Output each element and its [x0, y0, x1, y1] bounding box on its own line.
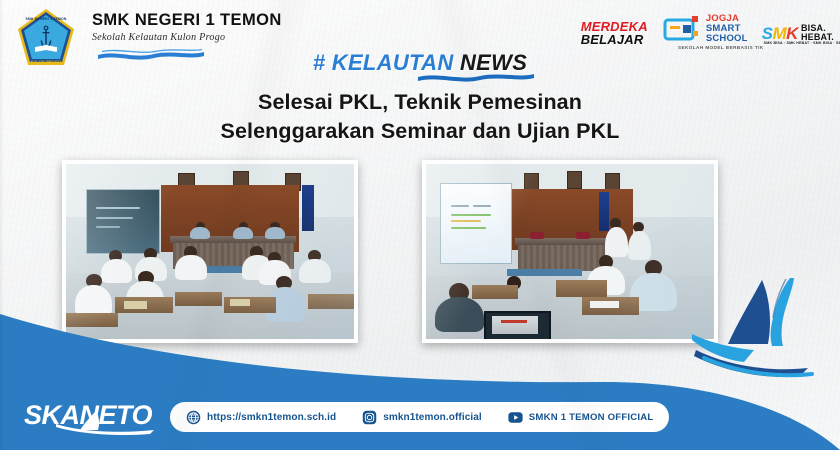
- jogja-mark-icon: [662, 13, 702, 45]
- smk-bisa-hebat-logo: SMK BISA. HEBAT. SMK BISA · SMK HEBAT · …: [762, 24, 834, 42]
- merdeka-line2: BELAJAR: [581, 33, 648, 46]
- website-contact[interactable]: https://smkn1temon.sch.id: [186, 410, 336, 425]
- instagram-contact[interactable]: smkn1temon.official: [362, 410, 482, 425]
- emblem-ring-text: SMK NEGERI 1 TEMON: [24, 17, 68, 21]
- skaneto-sail-icon: [54, 409, 158, 435]
- jogja-smart-school-logo: JOGJA SMART SCHOOL: [662, 13, 748, 45]
- smk-letters: SMK: [762, 25, 798, 42]
- contact-pill: https://smkn1temon.sch.id smkn1temon.off…: [170, 402, 669, 432]
- headline-line-1: Selesai PKL, Teknik Pemesinan: [258, 90, 582, 114]
- instagram-label: smkn1temon.official: [383, 412, 482, 423]
- headline-line-2: Selenggarakan Seminar dan Ujian PKL: [60, 117, 780, 146]
- youtube-icon: [508, 410, 523, 425]
- smk-strip-text: SMK BISA · SMK HEBAT · SMK BISA · SMK HE…: [764, 41, 840, 46]
- website-label: https://smkn1temon.sch.id: [207, 412, 336, 423]
- hashtag-block: # KELAUTAN NEWS: [0, 50, 840, 76]
- globe-icon: [186, 410, 201, 425]
- merdeka-belajar-logo: MERDEKA BELAJAR: [581, 20, 648, 46]
- school-name: SMK NEGERI 1 TEMON: [92, 12, 282, 29]
- school-name-block: SMK NEGERI 1 TEMON Sekolah Kelautan Kulo…: [92, 12, 282, 43]
- youtube-label: SMKN 1 TEMON OFFICIAL: [529, 412, 654, 423]
- hashtag-wave-icon: [416, 72, 536, 82]
- footer-bar: SKANETO https://smkn1temon.sch.id: [0, 384, 840, 450]
- news-poster: SMK NEGERI 1 TEMON KULON PROGO SMK NEGER…: [0, 0, 840, 450]
- youtube-contact[interactable]: SMKN 1 TEMON OFFICIAL: [508, 410, 654, 425]
- instagram-icon: [362, 410, 377, 425]
- page-title: Selesai PKL, Teknik Pemesinan Selenggara…: [60, 88, 780, 145]
- skaneto-logo: SKANETO: [24, 397, 164, 437]
- school-tagline: Sekolah Kelautan Kulon Progo: [92, 32, 282, 43]
- jogja-line3: SCHOOL: [706, 34, 748, 44]
